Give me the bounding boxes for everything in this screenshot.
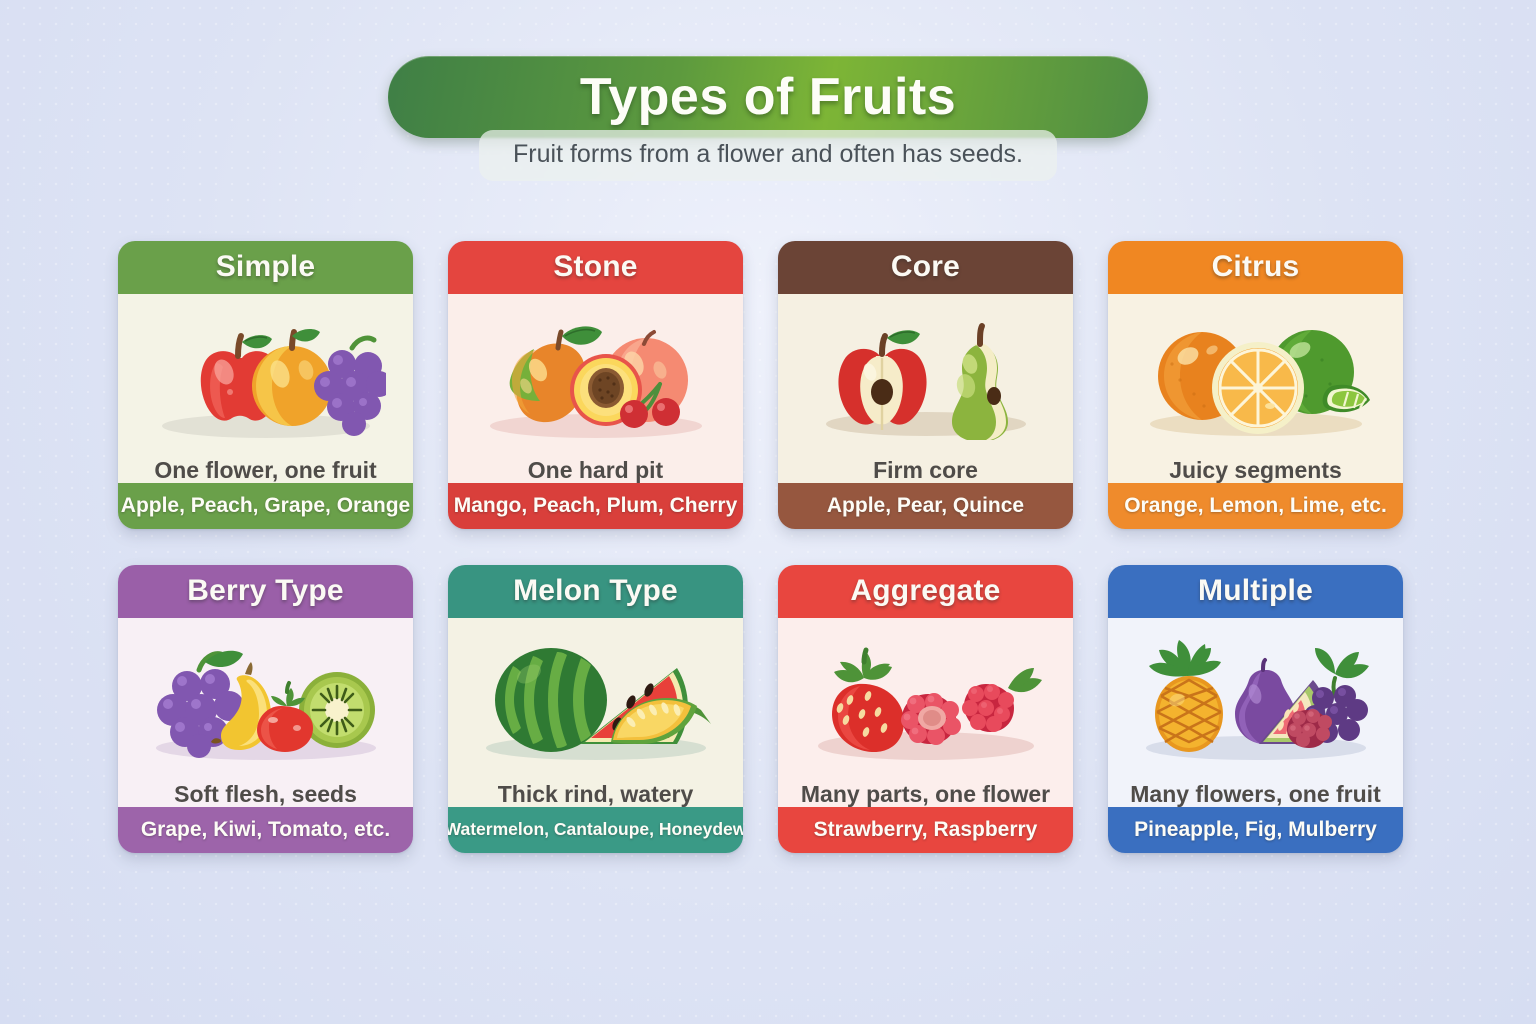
page-title: Types of Fruits xyxy=(580,67,956,127)
title-banner: Types of Fruits xyxy=(388,56,1148,138)
card-header: Aggregate xyxy=(778,565,1073,618)
card-simple[interactable]: Simple xyxy=(118,241,413,529)
card-title: Berry Type xyxy=(187,574,344,608)
card-examples: Orange, Lemon, Lime, etc. xyxy=(1124,494,1387,518)
card-body: Firm core xyxy=(778,294,1073,483)
card-footer: Pineapple, Fig, Mulberry xyxy=(1108,807,1403,853)
card-title: Citrus xyxy=(1212,250,1300,284)
card-description: One hard pit xyxy=(522,458,669,483)
card-description: Soft flesh, seeds xyxy=(168,782,363,807)
card-title: Simple xyxy=(216,250,316,284)
card-examples: Apple, Peach, Grape, Orange xyxy=(121,494,410,518)
card-core[interactable]: Core xyxy=(778,241,1073,529)
card-title: Stone xyxy=(553,250,637,284)
title-block: Types of Fruits Fruit forms from a flowe… xyxy=(0,56,1536,181)
card-description: One flower, one fruit xyxy=(148,458,382,483)
card-body: Many parts, one flower xyxy=(778,618,1073,807)
card-description: Juicy segments xyxy=(1163,458,1348,483)
card-header: Simple xyxy=(118,241,413,294)
card-stone[interactable]: Stone xyxy=(448,241,743,529)
card-examples: Strawberry, Raspberry xyxy=(814,818,1038,842)
card-footer: Orange, Lemon, Lime, etc. xyxy=(1108,483,1403,529)
card-examples: Watermelon, Cantaloupe, Honeydew xyxy=(448,819,743,840)
card-footer: Watermelon, Cantaloupe, Honeydew xyxy=(448,807,743,853)
card-header: Melon Type xyxy=(448,565,743,618)
card-header: Berry Type xyxy=(118,565,413,618)
fruit-illustration-mango-peach-cherries xyxy=(448,302,743,440)
card-title: Multiple xyxy=(1198,574,1313,608)
card-footer: Apple, Pear, Quince xyxy=(778,483,1073,529)
card-multiple[interactable]: Multiple xyxy=(1108,565,1403,853)
infographic-page: Types of Fruits Fruit forms from a flowe… xyxy=(0,0,1536,1024)
card-footer: Strawberry, Raspberry xyxy=(778,807,1073,853)
card-footer: Apple, Peach, Grape, Orange xyxy=(118,483,413,529)
card-examples: Pineapple, Fig, Mulberry xyxy=(1134,818,1377,842)
card-melon-type[interactable]: Melon Type xyxy=(448,565,743,853)
fruit-illustration-orange-slice-lime xyxy=(1108,302,1403,440)
card-description: Many flowers, one fruit xyxy=(1124,782,1386,807)
card-body: One hard pit xyxy=(448,294,743,483)
fruit-illustration-apple-half-pear-half xyxy=(778,302,1073,440)
card-description: Many parts, one flower xyxy=(795,782,1056,807)
fruit-illustration-apple-apricot-grapes xyxy=(118,302,413,440)
card-description: Firm core xyxy=(867,458,984,483)
subtitle-banner: Fruit forms from a flower and often has … xyxy=(479,130,1057,181)
fruit-illustration-grapes-banana-tomato-kiwi xyxy=(118,626,413,764)
page-subtitle: Fruit forms from a flower and often has … xyxy=(513,140,1023,168)
card-header: Citrus xyxy=(1108,241,1403,294)
card-title: Melon Type xyxy=(513,574,678,608)
card-body: Thick rind, watery xyxy=(448,618,743,807)
card-description: Thick rind, watery xyxy=(492,782,700,807)
card-footer: Grape, Kiwi, Tomato, etc. xyxy=(118,807,413,853)
card-aggregate[interactable]: Aggregate xyxy=(778,565,1073,853)
card-body: Soft flesh, seeds xyxy=(118,618,413,807)
card-examples: Grape, Kiwi, Tomato, etc. xyxy=(141,818,390,842)
fruit-illustration-watermelon-cantaloupe xyxy=(448,626,743,764)
fruit-illustration-strawberry-raspberries xyxy=(778,626,1073,764)
card-title: Aggregate xyxy=(850,574,1000,608)
card-citrus[interactable]: Citrus xyxy=(1108,241,1403,529)
card-header: Stone xyxy=(448,241,743,294)
fruit-illustration-pineapple-fig-mulberry xyxy=(1108,626,1403,764)
card-header: Multiple xyxy=(1108,565,1403,618)
card-footer: Mango, Peach, Plum, Cherry xyxy=(448,483,743,529)
fruit-type-card-grid: Simple xyxy=(118,241,1424,853)
card-title: Core xyxy=(891,250,960,284)
card-body: Many flowers, one fruit xyxy=(1108,618,1403,807)
card-examples: Mango, Peach, Plum, Cherry xyxy=(454,494,738,518)
card-body: Juicy segments xyxy=(1108,294,1403,483)
card-berry-type[interactable]: Berry Type xyxy=(118,565,413,853)
card-header: Core xyxy=(778,241,1073,294)
card-examples: Apple, Pear, Quince xyxy=(827,494,1024,518)
card-body: One flower, one fruit xyxy=(118,294,413,483)
